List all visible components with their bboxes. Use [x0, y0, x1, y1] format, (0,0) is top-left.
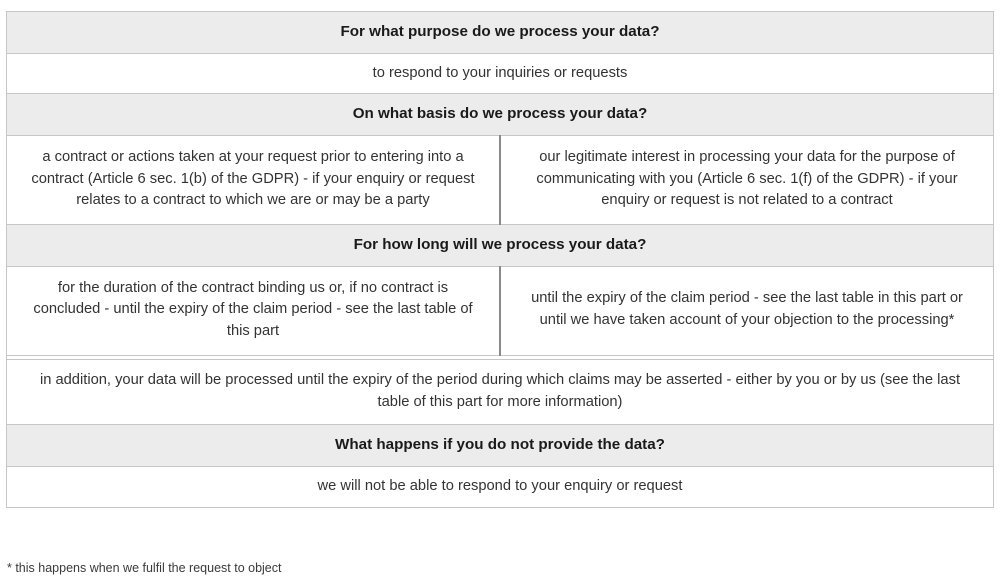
document-page: For what purpose do we process your data… [0, 0, 1000, 569]
table-row: we will not be able to respond to your e… [7, 466, 994, 507]
table-body: For what purpose do we process your data… [7, 12, 994, 508]
answer-not-provide: we will not be able to respond to your e… [7, 466, 994, 507]
answer-basis-legitimate-interest: our legitimate interest in processing yo… [500, 135, 994, 224]
table-row: in addition, your data will be processed… [7, 359, 994, 425]
section-header-purpose: For what purpose do we process your data… [7, 12, 994, 54]
table-row: On what basis do we process your data? [7, 94, 994, 136]
answer-additional-claims-period: in addition, your data will be processed… [7, 359, 994, 425]
answer-duration-claim-period: until the expiry of the claim period - s… [500, 266, 994, 355]
footnote-text: * this happens when we fulfil the reques… [7, 560, 281, 577]
section-header-duration: For how long will we process your data? [7, 225, 994, 267]
table-row: What happens if you do not provide the d… [7, 425, 994, 467]
table-row: for the duration of the contract binding… [7, 266, 994, 355]
answer-purpose: to respond to your inquiries or requests [7, 53, 994, 94]
table-row: For how long will we process your data? [7, 225, 994, 267]
answer-basis-contract: a contract or actions taken at your requ… [7, 135, 501, 224]
data-processing-table: For what purpose do we process your data… [6, 11, 994, 508]
table-row: a contract or actions taken at your requ… [7, 135, 994, 224]
section-header-not-provide: What happens if you do not provide the d… [7, 425, 994, 467]
section-header-basis: On what basis do we process your data? [7, 94, 994, 136]
answer-duration-contract: for the duration of the contract binding… [7, 266, 501, 355]
table-row: to respond to your inquiries or requests [7, 53, 994, 94]
table-row: For what purpose do we process your data… [7, 12, 994, 54]
